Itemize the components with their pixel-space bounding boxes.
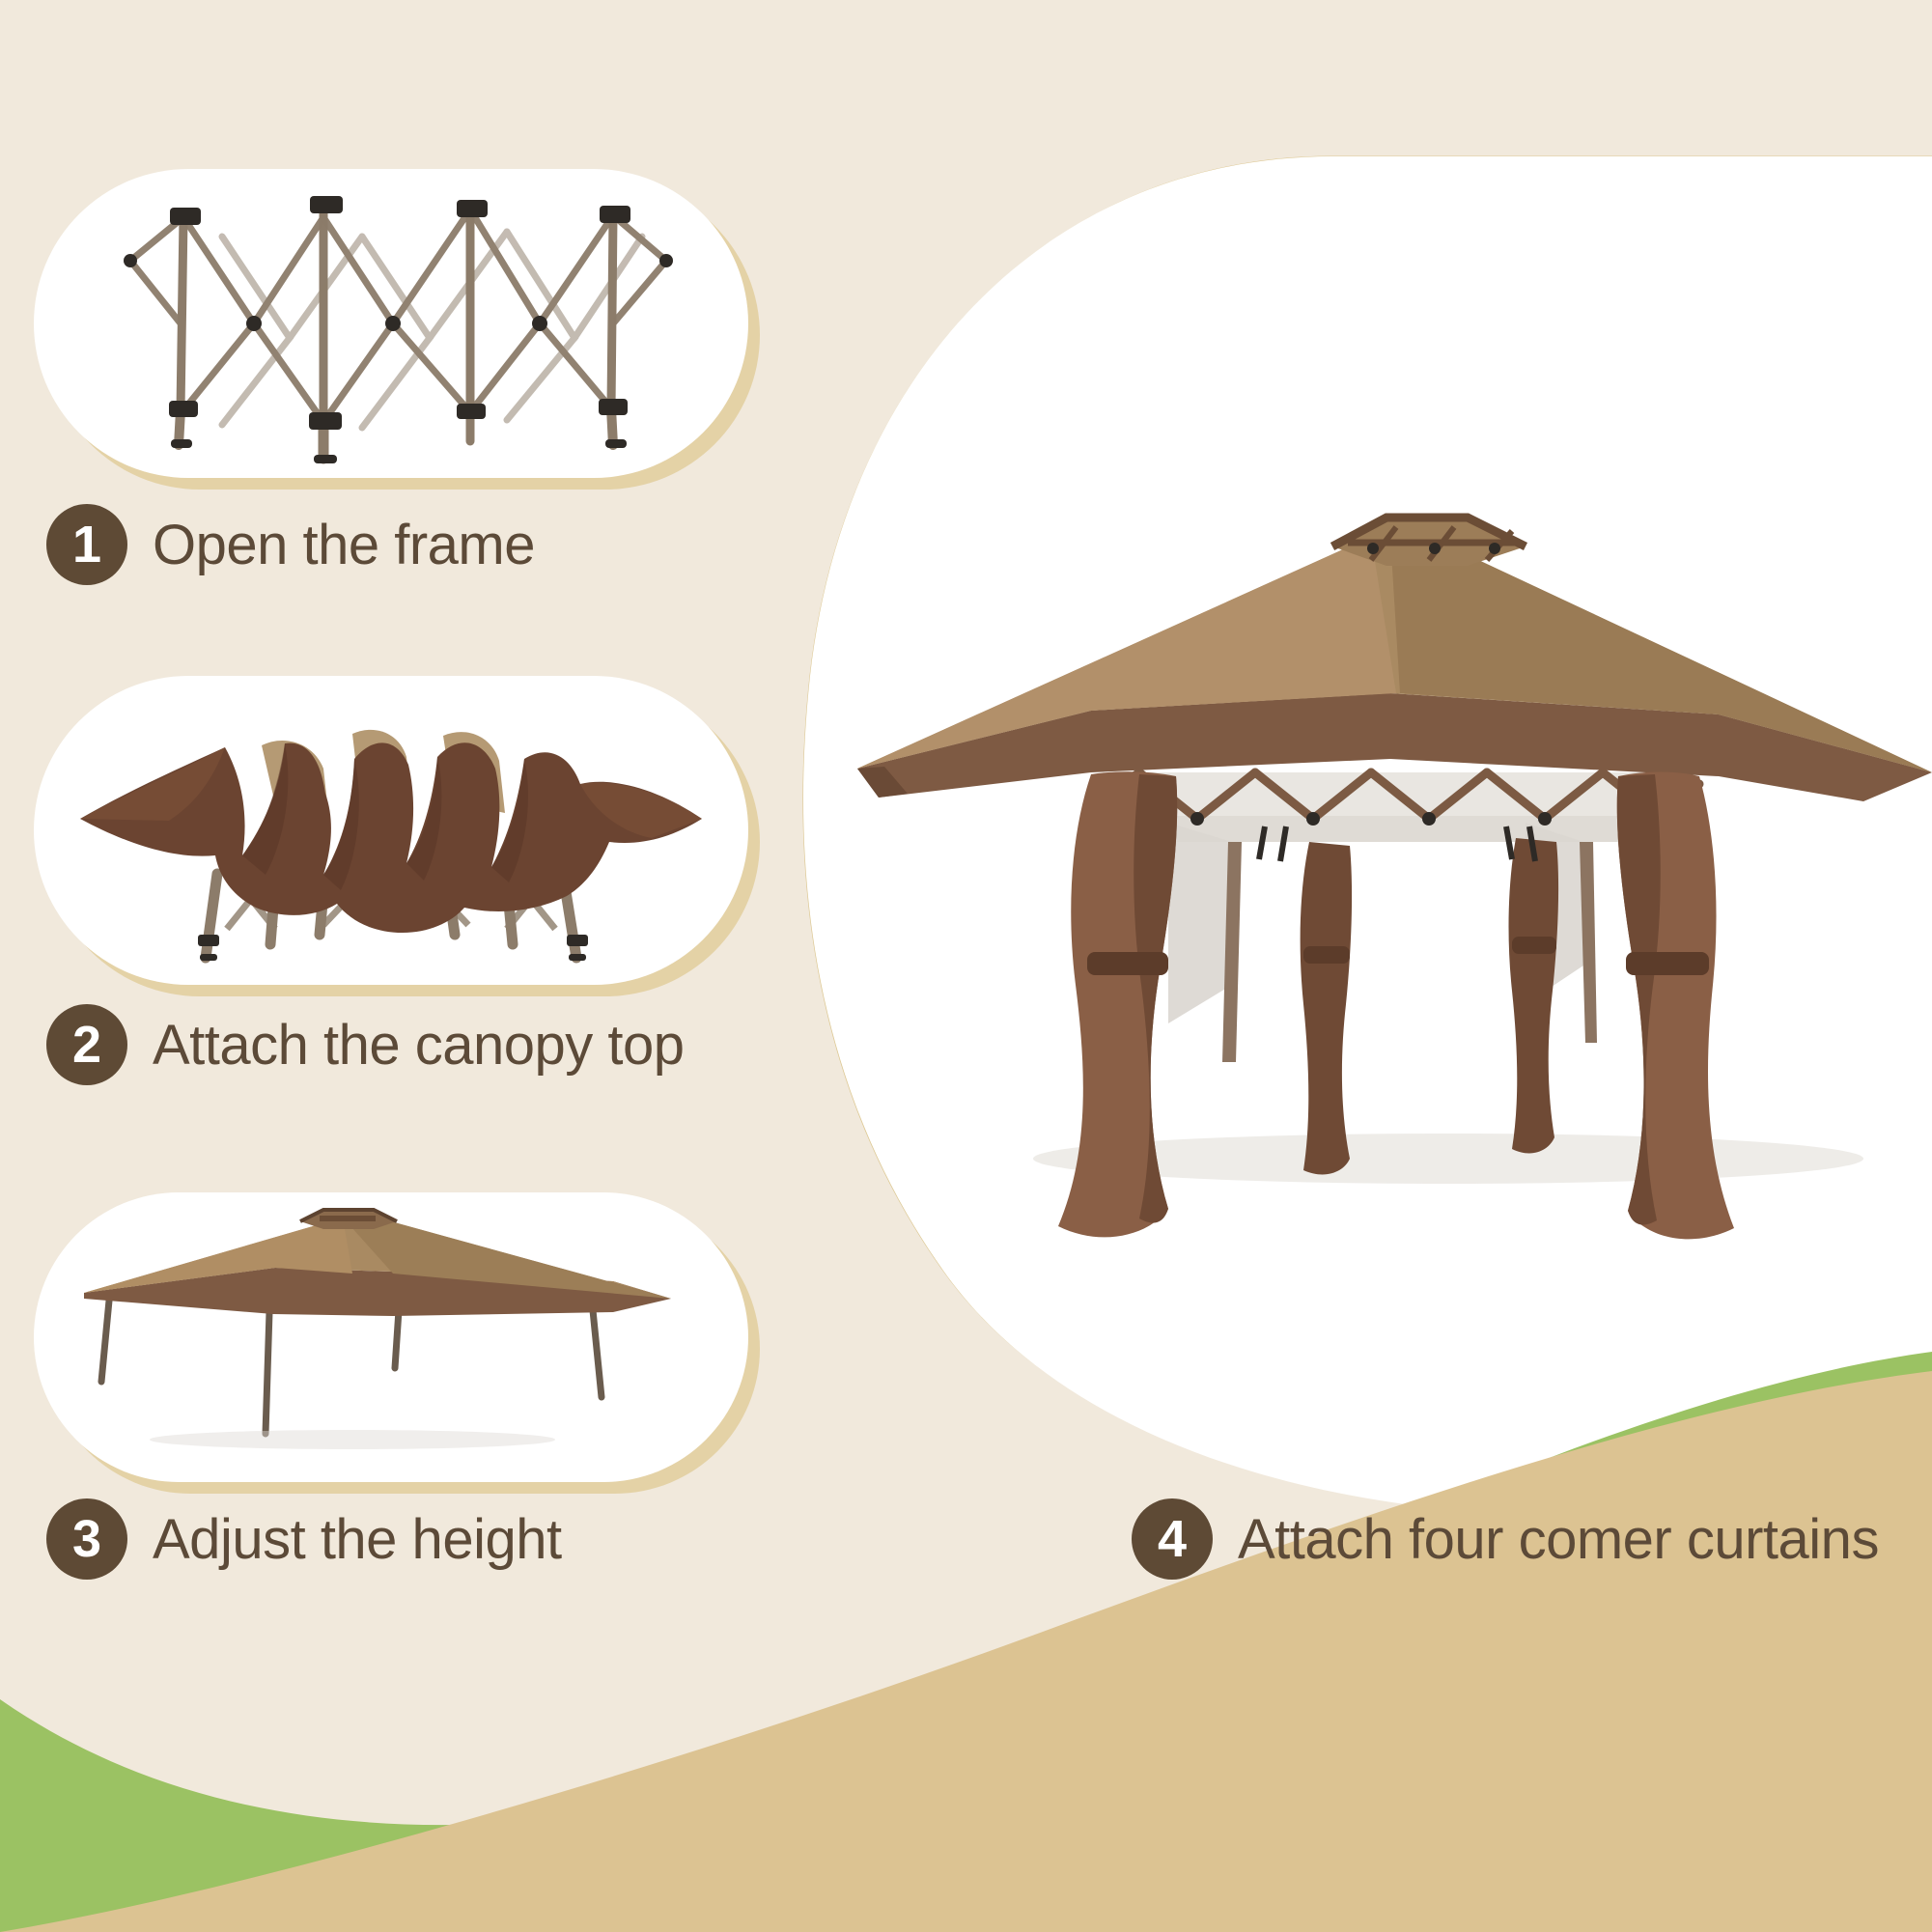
step-2-badge: 2	[46, 1004, 127, 1085]
step-4-caption: 4 Attach four comer curtains	[1132, 1498, 1879, 1580]
roof-vent	[300, 1210, 397, 1229]
step-3-image-card	[34, 1192, 748, 1482]
gazebo-legs	[101, 1301, 602, 1434]
step-4-badge: 4	[1132, 1498, 1213, 1580]
step-2-image-card	[34, 676, 748, 985]
folded-frame-photo	[34, 169, 748, 478]
step-3-label: Adjust the height	[153, 1507, 562, 1572]
gazebo-with-curtains-photo	[850, 483, 1932, 1284]
step-2-caption: 2 Attach the canopy top	[46, 1004, 685, 1085]
canopy-draped-photo	[34, 676, 748, 985]
step-3-caption: 3 Adjust the height	[46, 1498, 562, 1580]
step-1-label: Open the frame	[153, 513, 535, 577]
step-4-label: Attach four comer curtains	[1238, 1507, 1879, 1572]
step-2-label: Attach the canopy top	[153, 1013, 685, 1078]
corner-curtain-right-inner	[1509, 838, 1559, 1153]
canopy-fabric	[80, 742, 702, 933]
step-1-caption: 1 Open the frame	[46, 504, 535, 585]
corner-curtain-left-inner	[1301, 842, 1352, 1174]
infographic-canvas: 1 Open the frame	[0, 0, 1932, 1932]
step-1-image-card	[34, 169, 748, 478]
step-3-badge: 3	[46, 1498, 127, 1580]
step-1-badge: 1	[46, 504, 127, 585]
step-4-image	[850, 483, 1932, 1284]
gazebo-raised-photo	[34, 1192, 748, 1482]
